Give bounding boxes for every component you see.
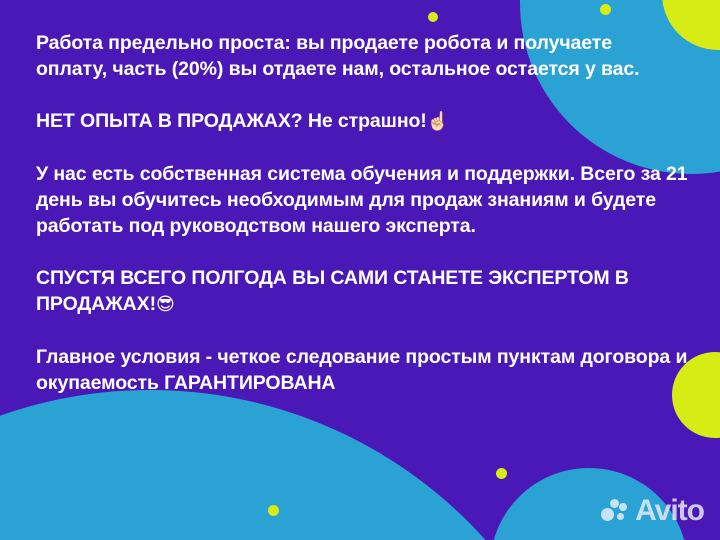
avito-wordmark: Avito xyxy=(635,496,704,526)
promo-poster: Работа предельно проста: вы продаете роб… xyxy=(0,0,720,540)
paragraph-training: У нас есть собственная система обучения … xyxy=(36,161,688,239)
lime-dot-top-left xyxy=(428,12,438,22)
paragraph-main-condition: Главное условия - четкое следование прос… xyxy=(36,344,688,396)
lime-dot-bottom-left xyxy=(268,505,279,516)
paragraph-main-condition-text: Главное условия - четкое следование прос… xyxy=(36,346,687,394)
pointing-hand-icon: ☝🏻 xyxy=(427,111,449,132)
lime-dot-bottom-center xyxy=(496,468,507,479)
sunglasses-smiley-icon: 😎 xyxy=(156,294,175,315)
paragraph-no-experience: НЕТ ОПЫТА В ПРОДАЖАХ? Не страшно!☝🏻 xyxy=(36,108,688,135)
paragraph-no-experience-text: НЕТ ОПЫТА В ПРОДАЖАХ? Не страшно! xyxy=(36,110,427,132)
paragraph-intro-text: Работа предельно проста: вы продаете роб… xyxy=(36,32,640,80)
paragraph-intro: Работа предельно проста: вы продаете роб… xyxy=(36,30,688,82)
paragraph-become-expert: СПУСТЯ ВСЕГО ПОЛГОДА ВЫ САМИ СТАНЕТЕ ЭКС… xyxy=(36,265,688,318)
lime-dot-top-right xyxy=(600,4,611,15)
poster-copy: Работа предельно проста: вы продаете роб… xyxy=(36,30,688,396)
paragraph-training-text: У нас есть собственная система обучения … xyxy=(36,163,688,237)
avito-dots-logo-icon xyxy=(601,499,629,523)
avito-watermark: Avito xyxy=(601,496,704,526)
paragraph-become-expert-text: СПУСТЯ ВСЕГО ПОЛГОДА ВЫ САМИ СТАНЕТЕ ЭКС… xyxy=(36,267,629,315)
